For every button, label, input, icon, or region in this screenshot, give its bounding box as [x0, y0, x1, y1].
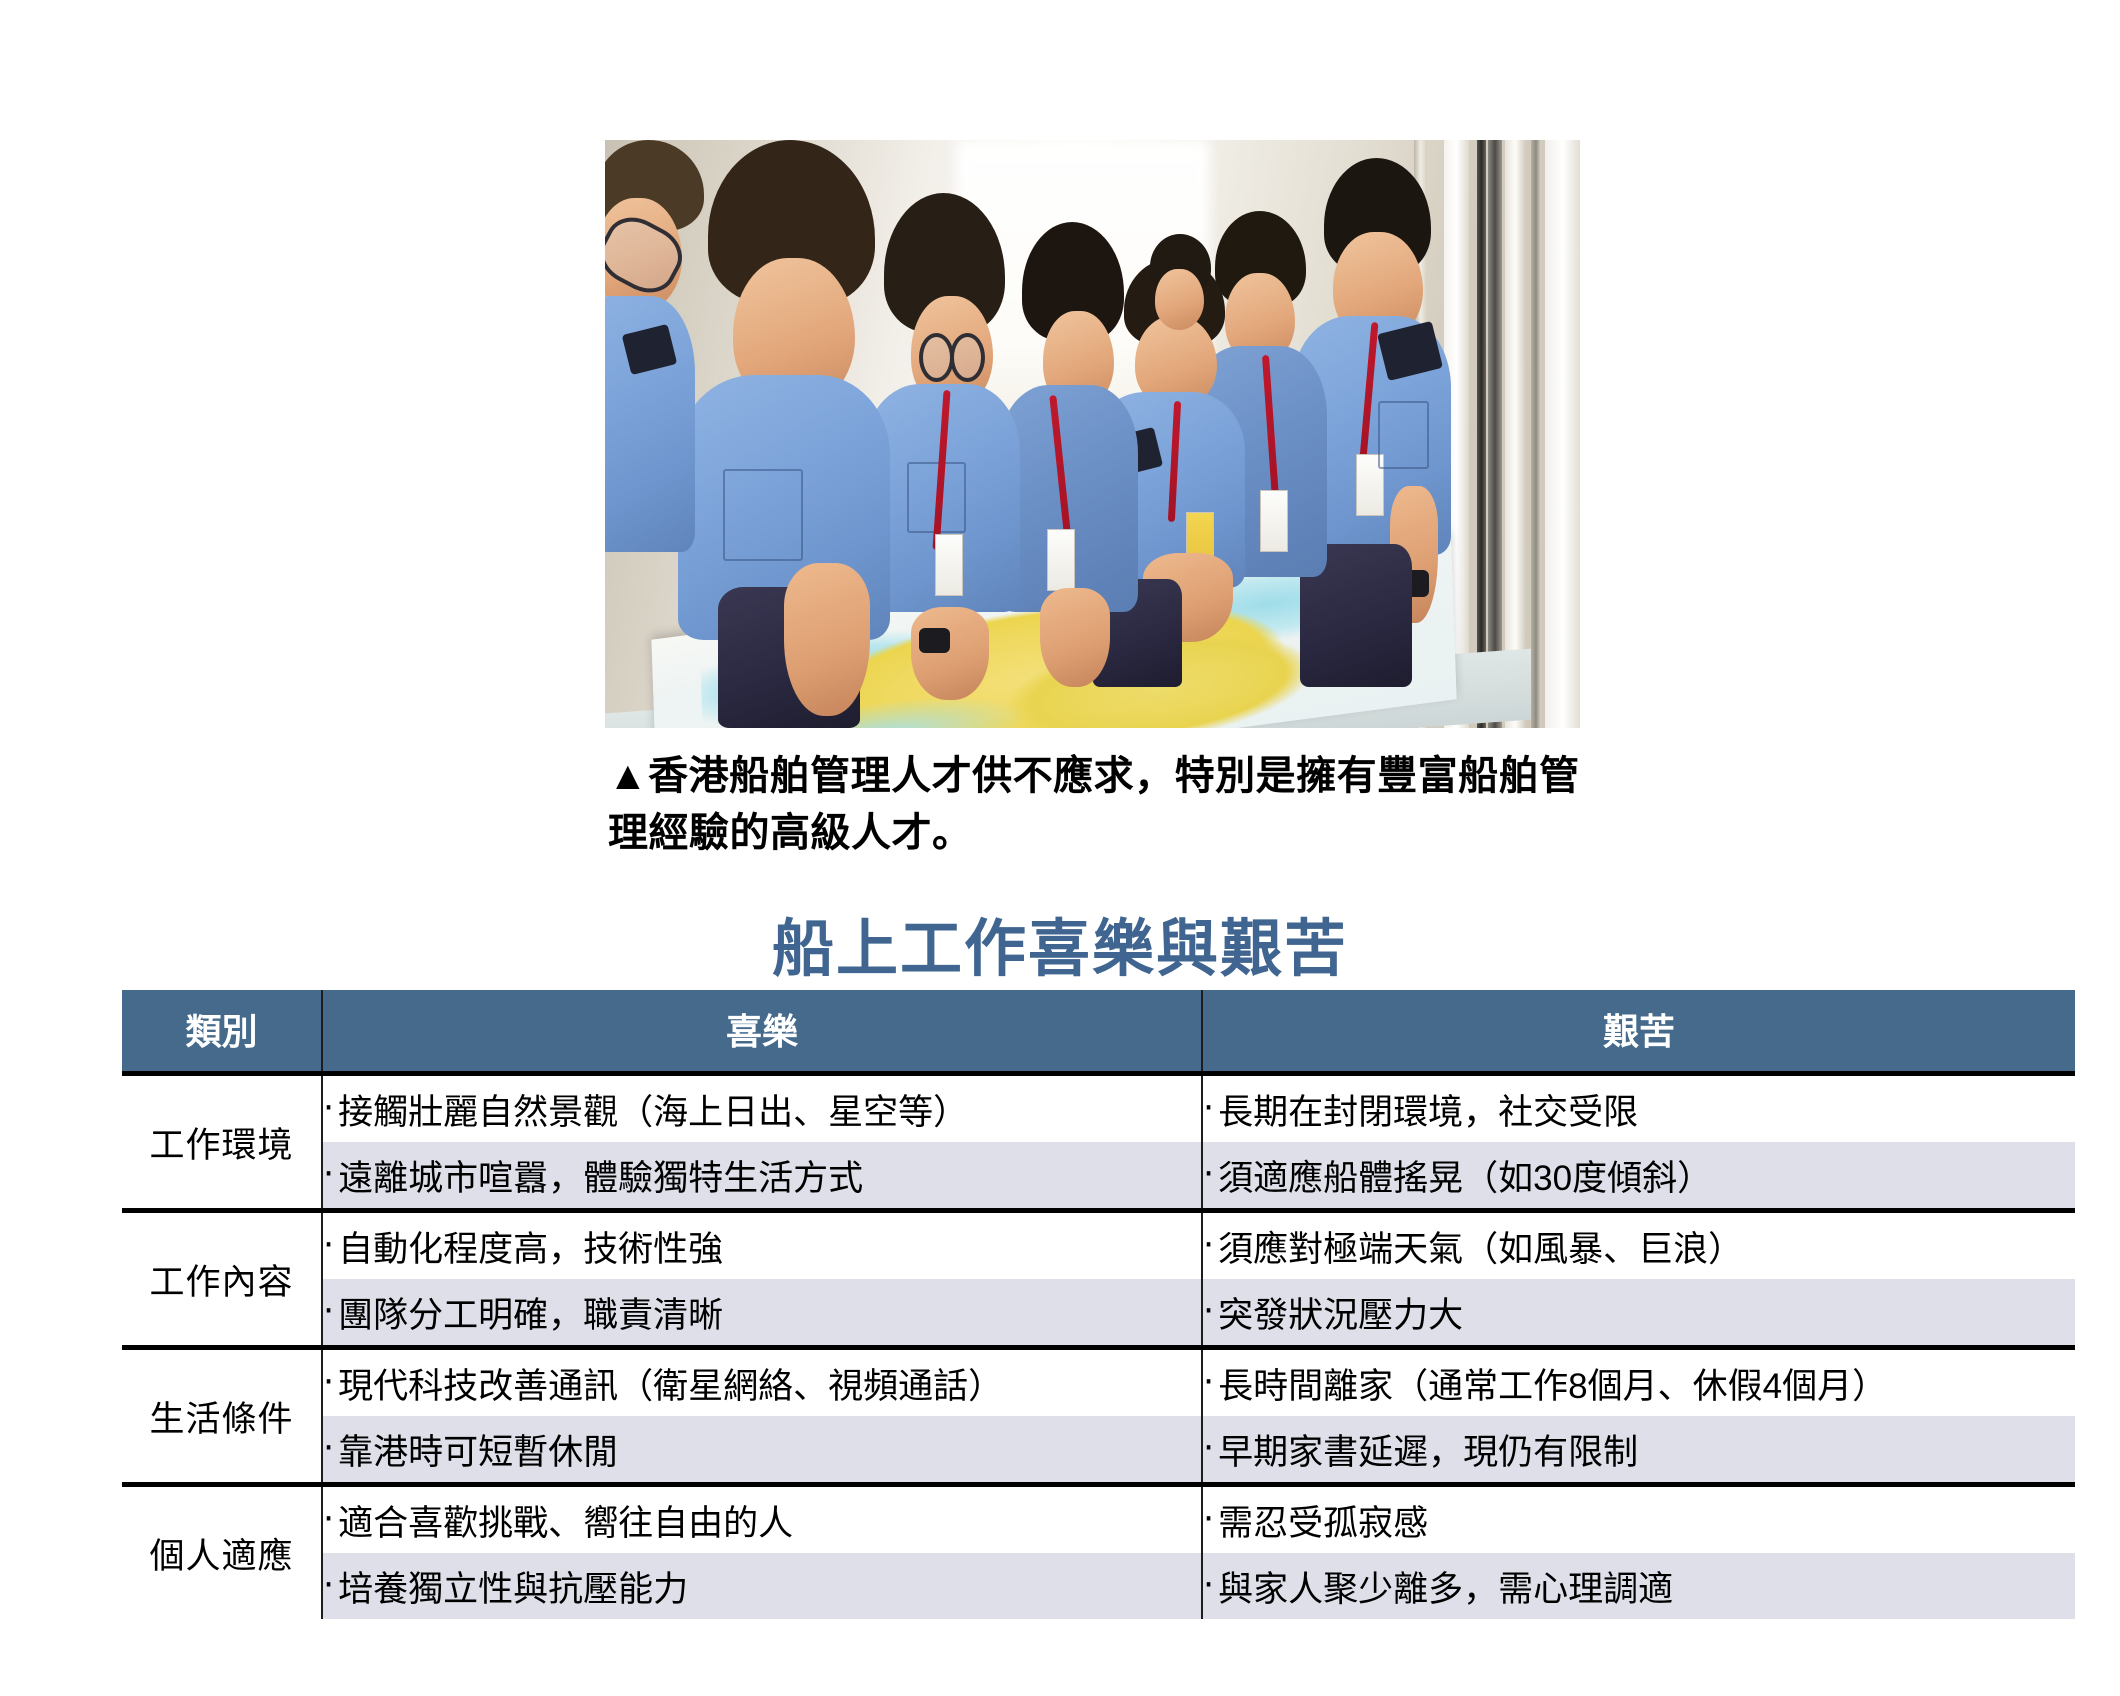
bullet-icon: ‧ — [323, 1566, 334, 1606]
hardship-text: 長時間離家（通常工作8個月、休假4個月） — [1218, 1367, 1887, 1406]
joy-text: 團隊分工明確，職責清晰 — [338, 1296, 723, 1335]
joy-text: 靠港時可短暫休閒 — [338, 1433, 618, 1472]
column-header-category: 類別 — [122, 990, 322, 1074]
bullet-icon: ‧ — [323, 1292, 334, 1332]
category-cell: 工作內容 — [122, 1211, 322, 1348]
bullet-icon: ‧ — [323, 1155, 334, 1195]
bullet-icon: ‧ — [1203, 1363, 1214, 1403]
hardship-cell: ‧突發狀況壓力大 — [1202, 1279, 2075, 1348]
window-mullion — [1545, 140, 1580, 728]
bullet-icon: ‧ — [1203, 1226, 1214, 1266]
hardship-text: 長期在封閉環境，社交受限 — [1218, 1093, 1638, 1132]
column-header-hardships: 艱苦 — [1202, 990, 2075, 1074]
shirt-pocket — [1378, 401, 1429, 469]
table-row: ‧團隊分工明確，職責清晰 ‧突發狀況壓力大 — [122, 1279, 2075, 1348]
hardship-text: 需忍受孤寂感 — [1218, 1504, 1428, 1543]
joy-text: 現代科技改善通訊（衛星網絡、視頻通話） — [338, 1367, 1003, 1406]
bullet-icon: ‧ — [1203, 1155, 1214, 1195]
bullet-icon: ‧ — [1203, 1500, 1214, 1540]
table-row: ‧培養獨立性與抗壓能力 ‧與家人聚少離多，需心理調適 — [122, 1553, 2075, 1619]
joy-text: 接觸壯麗自然景觀（海上日出、星空等） — [338, 1093, 968, 1132]
caption-text: 香港船舶管理人才供不應求，特別是擁有豐富船舶管理經驗的高級人才。 — [608, 754, 1580, 855]
joy-cell: ‧適合喜歡挑戰、嚮往自由的人 — [322, 1485, 1202, 1554]
hardship-cell: ‧早期家書延遲，現仍有限制 — [1202, 1416, 2075, 1485]
hardship-cell: ‧須應對極端天氣（如風暴、巨浪） — [1202, 1211, 2075, 1280]
joy-cell: ‧接觸壯麗自然景觀（海上日出、星空等） — [322, 1074, 1202, 1143]
table-header-row: 類別 喜樂 艱苦 — [122, 990, 2075, 1074]
hardship-cell: ‧需忍受孤寂感 — [1202, 1485, 2075, 1554]
window-mullion — [1505, 140, 1526, 728]
joy-cell: ‧培養獨立性與抗壓能力 — [322, 1553, 1202, 1619]
joy-text: 培養獨立性與抗壓能力 — [338, 1570, 688, 1609]
joy-cell: ‧團隊分工明確，職責清晰 — [322, 1279, 1202, 1348]
bullet-icon: ‧ — [323, 1500, 334, 1540]
face — [1155, 269, 1204, 330]
hardship-text: 突發狀況壓力大 — [1218, 1296, 1463, 1335]
hardship-text: 與家人聚少離多，需心理調適 — [1218, 1570, 1673, 1609]
hardship-cell: ‧須適應船體搖晃（如30度傾斜） — [1202, 1142, 2075, 1211]
joys-hardships-table: 類別 喜樂 艱苦 工作環境 ‧接觸壯麗自然景觀（海上日出、星空等） ‧長期在封閉… — [122, 990, 2075, 1619]
table-row: ‧遠離城市喧囂，體驗獨特生活方式 ‧須適應船體搖晃（如30度傾斜） — [122, 1142, 2075, 1211]
hardship-cell: ‧與家人聚少離多，需心理調適 — [1202, 1553, 2075, 1619]
hardship-cell: ‧長時間離家（通常工作8個月、休假4個月） — [1202, 1348, 2075, 1417]
window-mullion — [1531, 140, 1541, 728]
joy-cell: ‧自動化程度高，技術性強 — [322, 1211, 1202, 1280]
section-title: 船上工作喜樂與艱苦 — [0, 898, 2120, 988]
joy-text: 自動化程度高，技術性強 — [338, 1230, 723, 1269]
hardship-text: 早期家書延遲，現仍有限制 — [1218, 1433, 1638, 1472]
hardship-text: 須應對極端天氣（如風暴、巨浪） — [1218, 1230, 1743, 1269]
joy-text: 適合喜歡挑戰、嚮往自由的人 — [338, 1504, 793, 1543]
joy-text: 遠離城市喧囂，體驗獨特生活方式 — [338, 1159, 863, 1198]
joy-cell: ‧靠港時可短暫休閒 — [322, 1416, 1202, 1485]
bullet-icon: ‧ — [323, 1429, 334, 1469]
caption-marker: ▲ — [608, 754, 648, 798]
bullet-icon: ‧ — [323, 1363, 334, 1403]
joy-cell: ‧現代科技改善通訊（衛星網絡、視頻通話） — [322, 1348, 1202, 1417]
category-cell: 生活條件 — [122, 1348, 322, 1485]
joy-cell: ‧遠離城市喧囂，體驗獨特生活方式 — [322, 1142, 1202, 1211]
bullet-icon: ‧ — [1203, 1566, 1214, 1606]
article-photo — [605, 140, 1580, 728]
table-row: 工作內容 ‧自動化程度高，技術性強 ‧須應對極端天氣（如風暴、巨浪） — [122, 1211, 2075, 1280]
table-row: 工作環境 ‧接觸壯麗自然景觀（海上日出、星空等） ‧長期在封閉環境，社交受限 — [122, 1074, 2075, 1143]
table-row: ‧靠港時可短暫休閒 ‧早期家書延遲，現仍有限制 — [122, 1416, 2075, 1485]
person-figure — [605, 140, 742, 552]
bullet-icon: ‧ — [1203, 1089, 1214, 1129]
table-row: 生活條件 ‧現代科技改善通訊（衛星網絡、視頻通話） ‧長時間離家（通常工作8個月… — [122, 1348, 2075, 1417]
hardship-text: 須適應船體搖晃（如30度傾斜） — [1218, 1159, 1712, 1198]
bullet-icon: ‧ — [1203, 1429, 1214, 1469]
hardship-cell: ‧長期在封閉環境，社交受限 — [1202, 1074, 2075, 1143]
person-figure — [1141, 234, 1229, 352]
photo-frame — [605, 140, 1580, 728]
bullet-icon: ‧ — [323, 1226, 334, 1266]
bullet-icon: ‧ — [1203, 1292, 1214, 1332]
arm — [784, 563, 870, 716]
category-cell: 工作環境 — [122, 1074, 322, 1211]
bullet-icon: ‧ — [323, 1089, 334, 1129]
category-cell: 個人適應 — [122, 1485, 322, 1620]
column-header-joys: 喜樂 — [322, 990, 1202, 1074]
table-row: 個人適應 ‧適合喜歡挑戰、嚮往自由的人 ‧需忍受孤寂感 — [122, 1485, 2075, 1554]
photo-caption: ▲香港船舶管理人才供不應求，特別是擁有豐富船舶管理經驗的高級人才。 — [608, 748, 1598, 862]
